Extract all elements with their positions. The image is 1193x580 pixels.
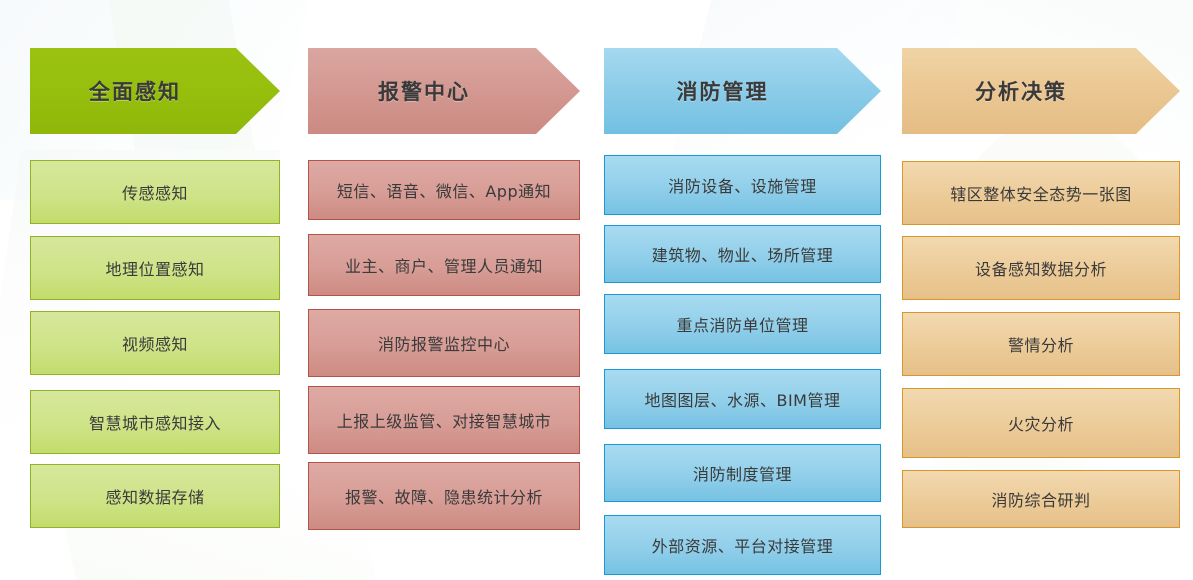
list-item-label: 消防综合研判 <box>991 487 1090 511</box>
list-item[interactable]: 消防制度管理 <box>604 444 881 502</box>
list-item[interactable]: 地图图层、水源、BIM管理 <box>604 369 881 429</box>
list-item[interactable]: 辖区整体安全态势一张图 <box>902 161 1180 225</box>
list-item-label: 外部资源、平台对接管理 <box>652 533 834 557</box>
column-header-label: 报警中心 <box>378 76 470 106</box>
list-item[interactable]: 消防设备、设施管理 <box>604 155 881 215</box>
list-item[interactable]: 智慧城市感知接入 <box>30 390 280 454</box>
column-alarm-center: 报警中心 短信、语音、微信、App通知 业主、商户、管理人员通知 消防报警监控中… <box>308 0 580 580</box>
list-item-label: 智慧城市感知接入 <box>89 410 221 434</box>
list-item[interactable]: 重点消防单位管理 <box>604 294 881 354</box>
list-item[interactable]: 感知数据存储 <box>30 464 280 528</box>
list-item[interactable]: 消防报警监控中心 <box>308 309 580 377</box>
list-item[interactable]: 地理位置感知 <box>30 236 280 300</box>
list-item-label: 消防报警监控中心 <box>378 331 510 355</box>
column-header-alarm-center[interactable]: 报警中心 <box>308 48 580 134</box>
list-item-label: 重点消防单位管理 <box>676 312 808 336</box>
list-item-label: 建筑物、物业、场所管理 <box>652 242 834 266</box>
column-header-perception[interactable]: 全面感知 <box>30 48 280 134</box>
list-item-label: 消防设备、设施管理 <box>668 173 817 197</box>
architecture-diagram: 全面感知 传感感知 地理位置感知 视频感知 智慧城市感知接入 感知数据存储 报警… <box>0 0 1193 580</box>
list-item-label: 设备感知数据分析 <box>975 256 1107 280</box>
column-analysis-decision: 分析决策 辖区整体安全态势一张图 设备感知数据分析 警情分析 火灾分析 消防综合… <box>902 0 1180 580</box>
column-header-label: 分析决策 <box>975 76 1067 106</box>
list-item[interactable]: 短信、语音、微信、App通知 <box>308 160 580 220</box>
list-item-label: 消防制度管理 <box>693 461 792 485</box>
list-item[interactable]: 火灾分析 <box>902 388 1180 458</box>
list-item[interactable]: 视频感知 <box>30 311 280 375</box>
column-fire-management: 消防管理 消防设备、设施管理 建筑物、物业、场所管理 重点消防单位管理 地图图层… <box>604 0 881 580</box>
column-perception: 全面感知 传感感知 地理位置感知 视频感知 智慧城市感知接入 感知数据存储 <box>30 0 280 580</box>
list-item-label: 视频感知 <box>122 331 188 355</box>
column-header-label: 全面感知 <box>89 76 181 106</box>
list-item-label: 警情分析 <box>1008 332 1074 356</box>
list-item-label: 火灾分析 <box>1008 411 1074 435</box>
list-item[interactable]: 传感感知 <box>30 160 280 224</box>
list-item-label: 业主、商户、管理人员通知 <box>345 253 543 277</box>
list-item-label: 辖区整体安全态势一张图 <box>950 181 1132 205</box>
list-item[interactable]: 建筑物、物业、场所管理 <box>604 225 881 283</box>
list-item[interactable]: 报警、故障、隐患统计分析 <box>308 462 580 530</box>
list-item[interactable]: 消防综合研判 <box>902 470 1180 528</box>
column-header-fire-management[interactable]: 消防管理 <box>604 48 881 134</box>
list-item[interactable]: 设备感知数据分析 <box>902 236 1180 300</box>
list-item-label: 短信、语音、微信、App通知 <box>337 178 551 202</box>
list-item[interactable]: 上报上级监管、对接智慧城市 <box>308 386 580 454</box>
list-item-label: 传感感知 <box>122 180 188 204</box>
list-item-label: 感知数据存储 <box>105 484 204 508</box>
list-item-label: 上报上级监管、对接智慧城市 <box>337 408 552 432</box>
list-item[interactable]: 外部资源、平台对接管理 <box>604 515 881 575</box>
list-item-label: 地理位置感知 <box>105 256 204 280</box>
column-header-label: 消防管理 <box>677 76 769 106</box>
list-item-label: 地图图层、水源、BIM管理 <box>644 387 840 411</box>
list-item-label: 报警、故障、隐患统计分析 <box>345 484 543 508</box>
list-item[interactable]: 业主、商户、管理人员通知 <box>308 234 580 296</box>
list-item[interactable]: 警情分析 <box>902 312 1180 376</box>
column-header-analysis-decision[interactable]: 分析决策 <box>902 48 1180 134</box>
